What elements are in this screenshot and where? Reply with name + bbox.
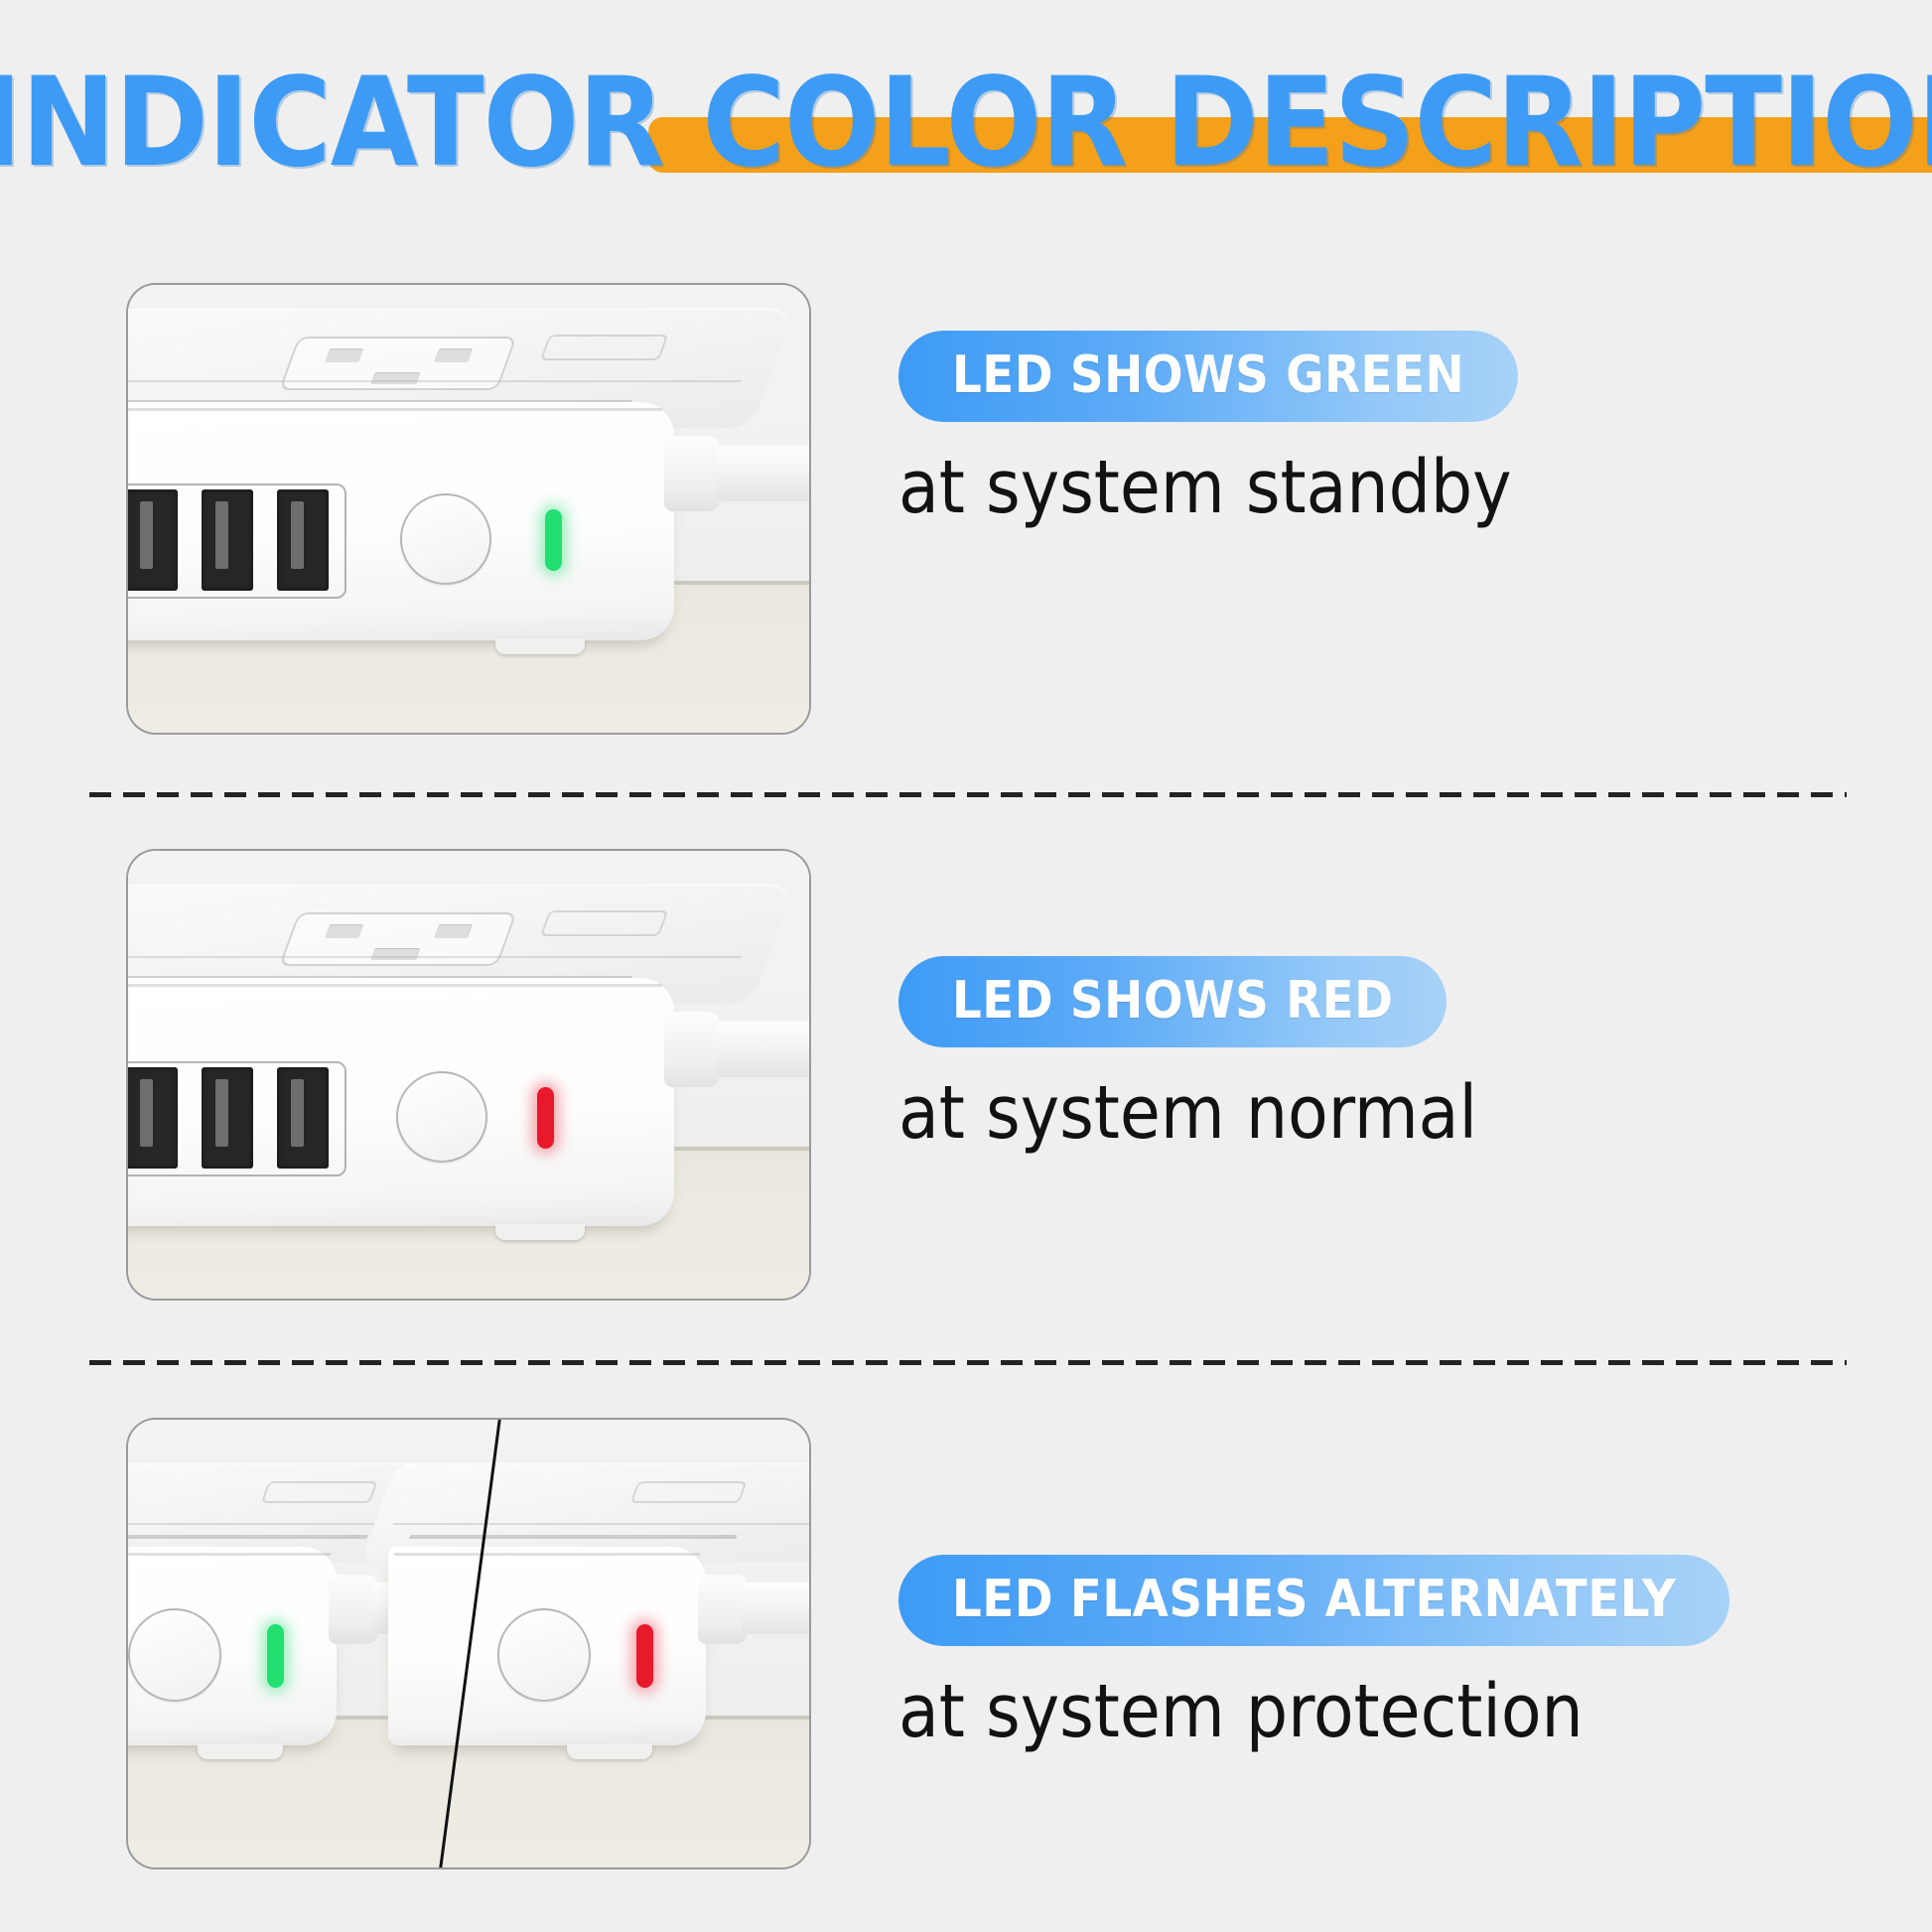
strip-cert-mark (540, 910, 668, 936)
text-block-3: LED FLASHES ALTERNATELY at system protec… (898, 1555, 1729, 1751)
outlet-pin (325, 924, 363, 938)
strip-rubber-foot (198, 1743, 283, 1759)
strip-front-face-right (388, 1547, 706, 1745)
page-title-part1: INDICATOR COLOR (0, 52, 1165, 195)
product-photo-panel-1 (126, 283, 811, 735)
page-header: INDICATOR COLOR DESCRIPTION (0, 62, 1932, 201)
strip-label-text (409, 1535, 738, 1539)
section-divider-1 (89, 792, 1847, 797)
cable-strain-relief-left (329, 1575, 378, 1644)
outlet-pin (370, 372, 420, 384)
section-led-flashes: LED FLASHES ALTERNATELY at system protec… (0, 1418, 1932, 1869)
power-cable (716, 446, 811, 501)
pill-led-shows-green: LED SHOWS GREEN (898, 331, 1518, 422)
pill-led-shows-red: LED SHOWS RED (898, 956, 1447, 1047)
strip-cert-mark (261, 1481, 378, 1503)
led-indicator-green (267, 1624, 284, 1688)
product-photo-1 (128, 285, 809, 733)
outlet-pin (434, 924, 473, 938)
cable-strain-relief (664, 436, 720, 511)
outlet-pin (434, 348, 473, 362)
power-cable (716, 1022, 811, 1077)
product-photo-panel-2 (126, 849, 811, 1301)
strip-front-face-left (126, 1547, 337, 1745)
strip-rubber-foot (495, 638, 585, 654)
section-divider-2 (89, 1360, 1847, 1365)
usb-port (126, 489, 178, 591)
strip-label-text (126, 1535, 368, 1539)
cable-strain-relief-right (698, 1575, 748, 1644)
product-photo-3 (128, 1420, 809, 1867)
strip-rubber-foot (495, 1224, 585, 1240)
usb-port (277, 1067, 329, 1169)
page-title-part2: DESCRIPTION (1165, 52, 1932, 195)
usb-port (277, 489, 329, 591)
section-led-green: LED SHOWS GREEN at system standby (0, 283, 1932, 735)
description-led-shows-green: at system standby (898, 450, 1518, 527)
strip-cert-mark (540, 335, 668, 360)
outlet-pin (370, 948, 420, 960)
power-button-left[interactable] (128, 1608, 221, 1702)
product-photo-panel-3 (126, 1418, 811, 1869)
product-photo-2 (128, 851, 809, 1299)
strip-outlet-cutout (279, 337, 517, 390)
outlet-pin (325, 348, 363, 362)
usb-port (126, 1067, 178, 1169)
description-led-shows-red: at system normal (898, 1075, 1477, 1153)
power-button-right[interactable] (497, 1608, 591, 1702)
strip-front-face (126, 978, 674, 1226)
cable-strain-relief (664, 1012, 720, 1087)
power-button[interactable] (396, 1071, 487, 1163)
description-led-flashes-alternately: at system protection (898, 1674, 1729, 1751)
usb-port (202, 489, 253, 591)
led-indicator-red (537, 1087, 554, 1149)
usb-port (202, 1067, 253, 1169)
strip-cert-mark (630, 1481, 748, 1503)
led-indicator-green (545, 509, 562, 571)
led-indicator-red (636, 1624, 653, 1688)
strip-front-face (126, 402, 674, 640)
power-cable-right (742, 1583, 811, 1634)
page-title: INDICATOR COLOR DESCRIPTION (0, 62, 1932, 185)
section-led-red: LED SHOWS RED at system normal (0, 849, 1932, 1301)
text-block-1: LED SHOWS GREEN at system standby (898, 331, 1518, 527)
text-block-2: LED SHOWS RED at system normal (898, 956, 1477, 1153)
power-button[interactable] (400, 493, 491, 585)
strip-outlet-cutout (279, 912, 517, 966)
strip-rubber-foot (567, 1743, 652, 1759)
pill-led-flashes-alternately: LED FLASHES ALTERNATELY (898, 1555, 1729, 1646)
